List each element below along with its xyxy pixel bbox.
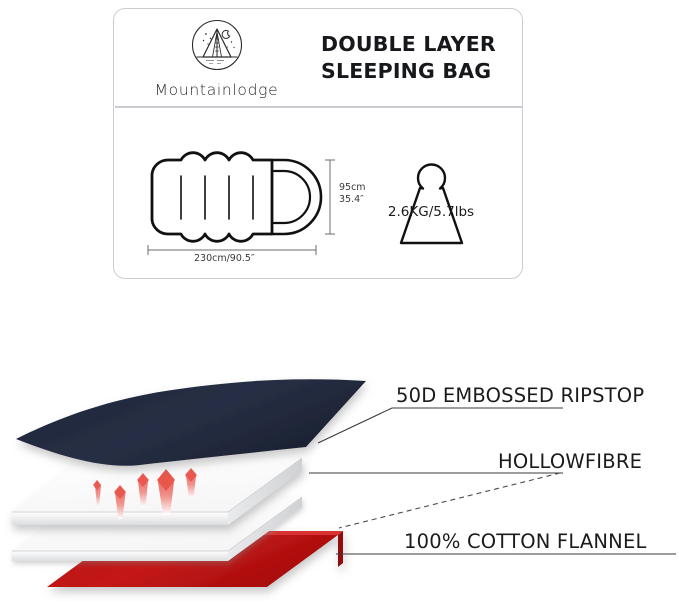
weight-block-icon — [357, 138, 505, 258]
mountain-tent-badge-icon — [190, 18, 244, 77]
brand-block: Mountainlodge — [114, 9, 319, 106]
weight-value-label: 2.6KG/5.7lbs — [373, 204, 489, 220]
layer-ripstop — [16, 379, 366, 465]
card-header: Mountainlodge DOUBLE LAYER SLEEPING BAG — [114, 9, 522, 106]
sleeping-bag-icon — [134, 140, 364, 260]
layer-label-ripstop: 50D EMBOSSED RIPSTOP — [396, 384, 644, 407]
product-title-line-1: DOUBLE LAYER — [321, 31, 522, 57]
product-spec-card: Mountainlodge DOUBLE LAYER SLEEPING BAG — [113, 8, 523, 279]
dimension-width-label: 230cm/90.5″ — [194, 253, 255, 265]
sleeping-bag-dimension-figure: 95cm 35.4″ 230cm/90.5″ — [134, 140, 364, 260]
product-title: DOUBLE LAYER SLEEPING BAG — [319, 31, 522, 83]
card-body: 95cm 35.4″ 230cm/90.5″ 2.6KG/5.7lbs — [114, 108, 522, 279]
layer-label-hollowfibre: HOLLOWFIBRE — [498, 450, 642, 473]
product-title-line-2: SLEEPING BAG — [321, 58, 522, 84]
layers-exploded-diagram: 50D EMBOSSED RIPSTOP HOLLOWFIBRE 100% CO… — [0, 355, 679, 603]
brand-wordmark: Mountainlodge — [155, 81, 279, 99]
layer-label-cotton-flannel: 100% COTTON FLANNEL — [404, 530, 647, 553]
weight-figure: 2.6KG/5.7lbs — [357, 138, 505, 258]
